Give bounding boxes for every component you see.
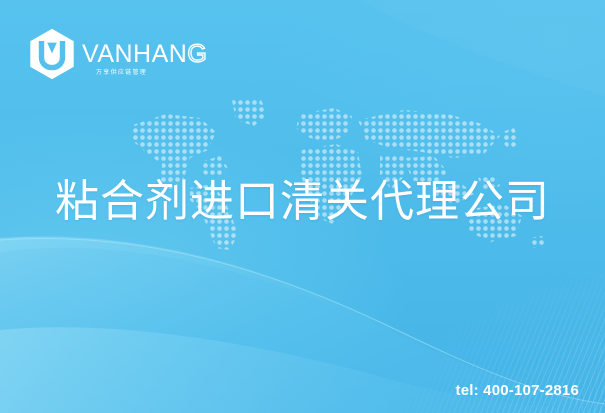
logo-wordmark-group: VANHANG 万享供应链管理 bbox=[82, 42, 207, 67]
marketing-banner: VANHANG 万享供应链管理 粘合剂进口清关代理公司 tel: 400-107… bbox=[0, 0, 605, 413]
brand-logo: VANHANG 万享供应链管理 bbox=[28, 28, 207, 80]
logo-wordmark: VANHANG bbox=[82, 42, 207, 67]
logo-subtitle: 万享供应链管理 bbox=[96, 70, 147, 76]
hexagon-u-arrow-icon bbox=[28, 28, 76, 80]
page-title: 粘合剂进口清关代理公司 bbox=[55, 178, 550, 226]
contact-phone: tel: 400-107-2816 bbox=[456, 382, 579, 399]
logo-wordmark-g: G bbox=[187, 40, 207, 68]
logo-wordmark-main: VANHAN bbox=[82, 40, 187, 68]
